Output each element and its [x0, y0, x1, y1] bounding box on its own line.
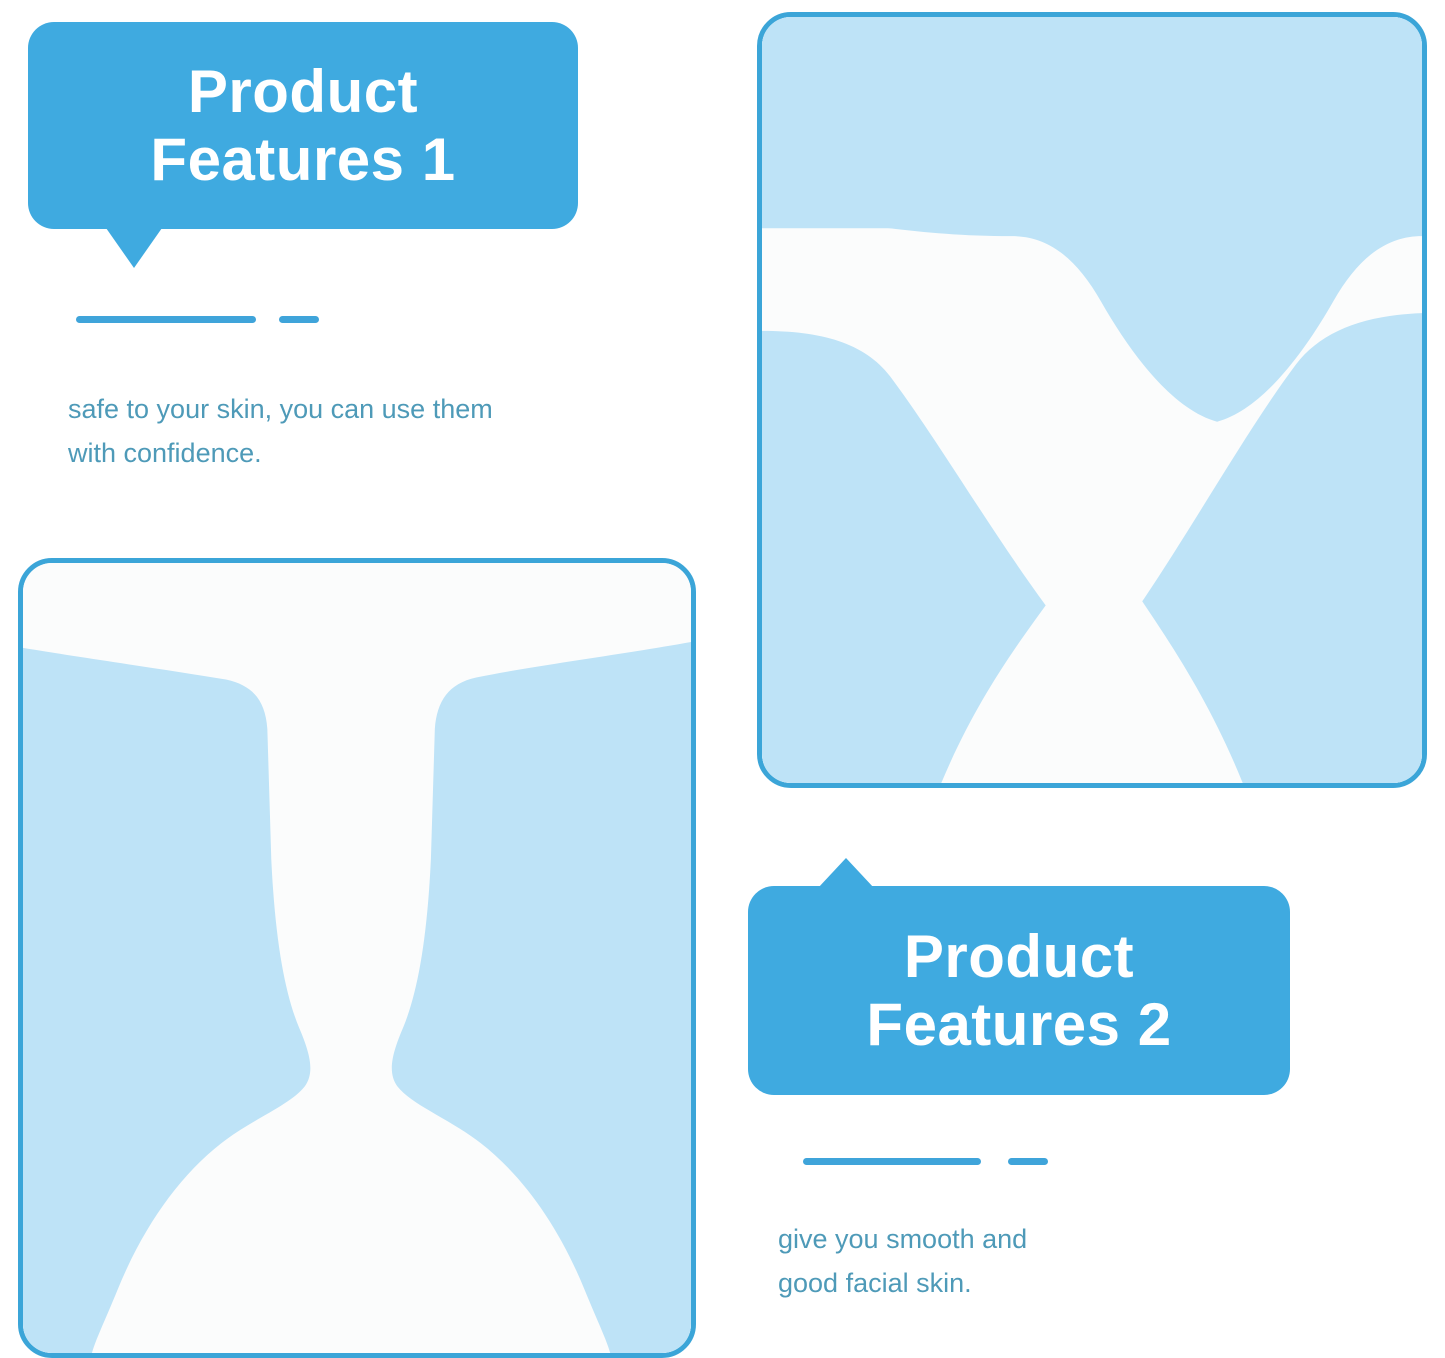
feature-2-heading: Product Features 2: [848, 923, 1189, 1057]
feature-2-bubble-tail-icon: [818, 858, 874, 888]
feature-2-bubble: Product Features 2: [748, 886, 1290, 1095]
divider-short-dash-icon: [279, 316, 319, 323]
feature-1-divider: [76, 316, 336, 323]
divider-long-dash-icon: [76, 316, 256, 323]
divider-short-dash-icon: [1008, 1158, 1048, 1165]
feature-1-bubble: Product Features 1: [28, 22, 578, 229]
divider-long-dash-icon: [803, 1158, 981, 1165]
product-image-top-right-graphic: [762, 17, 1422, 783]
feature-1-caption: safe to your skin, you can use them with…: [68, 388, 648, 475]
feature-2-divider: [803, 1158, 1053, 1165]
infographic-page: Product Features 1 safe to your skin, yo…: [0, 0, 1445, 1358]
feature-2-caption: give you smooth and good facial skin.: [778, 1218, 1208, 1305]
feature-1-bubble-tail-icon: [106, 228, 162, 268]
product-image-bottom-left: [18, 558, 696, 1358]
product-image-bottom-left-graphic: [23, 563, 691, 1353]
product-image-top-right: [757, 12, 1427, 788]
feature-1-heading: Product Features 1: [132, 58, 473, 192]
